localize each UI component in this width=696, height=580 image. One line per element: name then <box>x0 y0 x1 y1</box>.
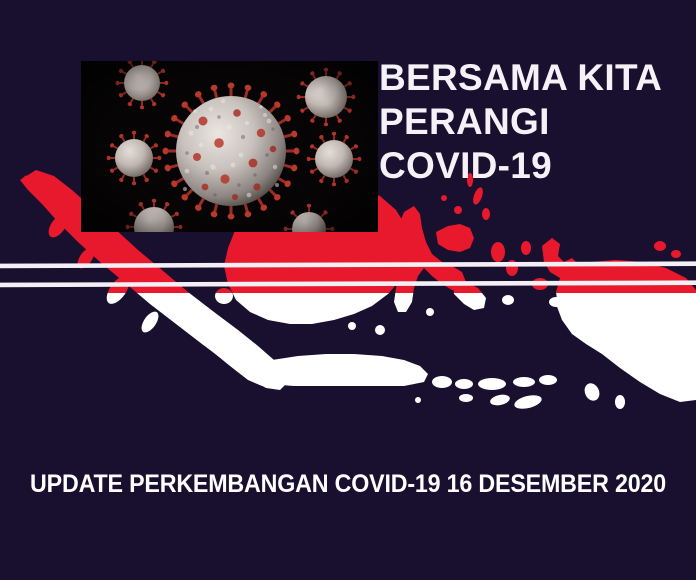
page-title: BERSAMA KITA PERANGI COVID-19 <box>379 56 695 188</box>
headline-line-2: PERANGI <box>379 100 695 144</box>
update-caption: UPDATE PERKEMBANGAN COVID-19 16 DESEMBER… <box>24 470 671 499</box>
coronavirus-photo <box>81 61 378 232</box>
covid-update-poster: BERSAMA KITA PERANGI COVID-19 UPDATE PER… <box>0 0 696 580</box>
headline-line-1: BERSAMA KITA <box>379 56 695 100</box>
headline-line-3: COVID-19 <box>379 144 695 188</box>
